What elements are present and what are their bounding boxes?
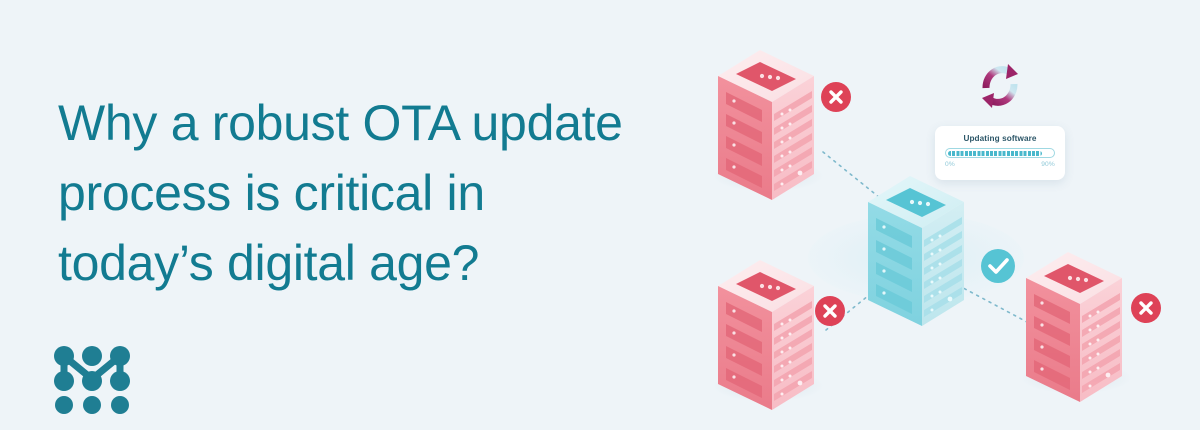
progress-scale-labels: 0% 90% <box>945 161 1055 168</box>
server-node-bottom-right[interactable] <box>1026 252 1122 402</box>
progress-bar-track <box>945 148 1055 158</box>
company-logo[interactable] <box>52 344 134 414</box>
update-progress-card: Updating software 0% 90% <box>935 126 1065 180</box>
status-badge-error-top-left[interactable] <box>821 82 851 112</box>
server-node-bottom-left[interactable] <box>718 260 814 410</box>
status-badge-error-bottom-left[interactable] <box>815 296 845 326</box>
sync-refresh-icon <box>982 64 1018 108</box>
progress-title: Updating software <box>945 134 1055 143</box>
server-network-illustration <box>690 0 1200 430</box>
server-node-top-left[interactable] <box>718 50 814 200</box>
page-title: Why a robust OTA update process is criti… <box>58 88 738 298</box>
progress-bar-fill <box>948 151 1042 156</box>
status-badge-success-center[interactable] <box>981 249 1015 283</box>
ota-update-banner: Why a robust OTA update process is criti… <box>0 0 1200 430</box>
progress-max-label: 90% <box>1041 161 1055 168</box>
progress-min-label: 0% <box>945 161 955 168</box>
server-node-center[interactable] <box>868 176 964 326</box>
status-badge-error-bottom-right[interactable] <box>1131 293 1161 323</box>
logo-m-dots-icon <box>52 344 134 414</box>
